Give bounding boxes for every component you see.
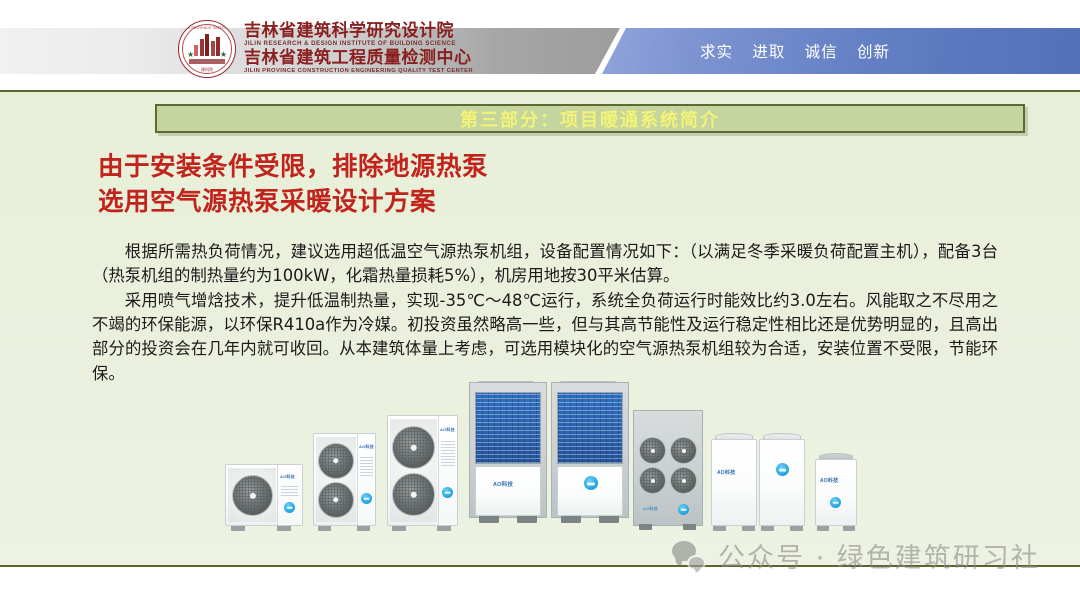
slogan-word-1: 求实 bbox=[700, 44, 733, 61]
watermark-text: 公众号 · 绿色建筑研习社 bbox=[718, 536, 1040, 575]
heat-pump-product-lineup-image: AO科技 AO科技 AO科技 bbox=[225, 364, 855, 534]
institute-name-en-line1: JILIN RESEARCH & DESIGN INSTITUTE OF BUI… bbox=[244, 40, 473, 49]
slogan-word-4: 创新 bbox=[857, 44, 890, 61]
institute-name-cn-line1: 吉林省建筑科学研究设计院 bbox=[244, 22, 473, 40]
institute-seal-icon: JILIN PROVINCE INSTITUTE ★ ★ 建科院 bbox=[178, 20, 236, 78]
unit-badge-icon-8 bbox=[776, 463, 789, 476]
wechat-icon bbox=[672, 541, 706, 571]
heat-pump-unit-7: AO科技 bbox=[711, 434, 757, 526]
unit-brand-6: AO科技 bbox=[643, 506, 658, 512]
heat-pump-unit-8 bbox=[759, 434, 805, 526]
unit-badge-icon-6 bbox=[678, 504, 689, 515]
unit-badge-icon-9 bbox=[830, 497, 841, 508]
unit-badge-icon-5 bbox=[584, 476, 598, 490]
paragraph-1: 根据所需热负荷情况，建议选用超低温空气源热泵机组，设备配置情况如下：（以满足冬季… bbox=[92, 240, 998, 288]
unit-brand-4: AO科技 bbox=[493, 480, 513, 488]
page-header: JILIN PROVINCE INSTITUTE ★ ★ 建科院 吉林省建筑科学… bbox=[0, 0, 1080, 90]
header-slogan: 求实 进取 诚信 创新 bbox=[700, 40, 960, 62]
institute-logo: JILIN PROVINCE INSTITUTE ★ ★ 建科院 吉林省建筑科学… bbox=[178, 18, 473, 80]
seal-arc-top-text: JILIN PROVINCE INSTITUTE bbox=[179, 26, 235, 30]
heat-pump-unit-6: AO科技 bbox=[633, 410, 703, 526]
section-title-banner: 第三部分：项目暖通系统简介 bbox=[155, 104, 1025, 133]
heat-pump-unit-9: AO科技 bbox=[815, 454, 857, 526]
heat-pump-unit-5 bbox=[551, 382, 629, 526]
section-title-text: 第三部分：项目暖通系统简介 bbox=[460, 106, 720, 132]
unit-badge-icon-1 bbox=[284, 502, 295, 513]
seal-arc-bottom-text: 建科院 bbox=[179, 67, 235, 73]
heat-pump-unit-4: AO科技 bbox=[469, 382, 547, 526]
institute-name-en-line2: JILIN PROVINCE CONSTRUCTION ENGINEERING … bbox=[244, 68, 473, 76]
heading-line-1: 由于安装条件受限，排除地源热泵 bbox=[98, 150, 978, 185]
slide-heading: 由于安装条件受限，排除地源热泵 选用空气源热泵采暖设计方案 bbox=[98, 150, 978, 220]
institute-name-cn-line2: 吉林省建筑工程质量检测中心 bbox=[244, 49, 473, 69]
slide-content-area: 第三部分：项目暖通系统简介 由于安装条件受限，排除地源热泵 选用空气源热泵采暖设… bbox=[0, 90, 1080, 567]
unit-badge-icon-2 bbox=[361, 493, 372, 504]
slogan-word-3: 诚信 bbox=[805, 44, 838, 61]
watermark: 公众号 · 绿色建筑研习社 bbox=[672, 536, 1040, 575]
unit-brand-7: AO科技 bbox=[717, 469, 735, 476]
unit-brand-3: AO科技 bbox=[440, 427, 455, 433]
heat-pump-unit-1: AO科技 bbox=[225, 464, 303, 526]
slogan-word-2: 进取 bbox=[752, 44, 785, 61]
heat-pump-unit-2: AO科技 bbox=[313, 433, 376, 526]
unit-brand-9: AO科技 bbox=[820, 477, 838, 484]
institute-logo-text: 吉林省建筑科学研究设计院 JILIN RESEARCH & DESIGN INS… bbox=[244, 22, 473, 76]
seal-star-left-icon: ★ bbox=[187, 51, 194, 59]
heading-line-2: 选用空气源热泵采暖设计方案 bbox=[98, 185, 978, 220]
unit-badge-icon-3 bbox=[442, 487, 453, 498]
unit-brand-1: AO科技 bbox=[280, 474, 295, 480]
seal-star-right-icon: ★ bbox=[220, 51, 227, 59]
heat-pump-unit-3: AO科技 bbox=[387, 415, 458, 526]
unit-brand-2: AO科技 bbox=[359, 444, 374, 450]
